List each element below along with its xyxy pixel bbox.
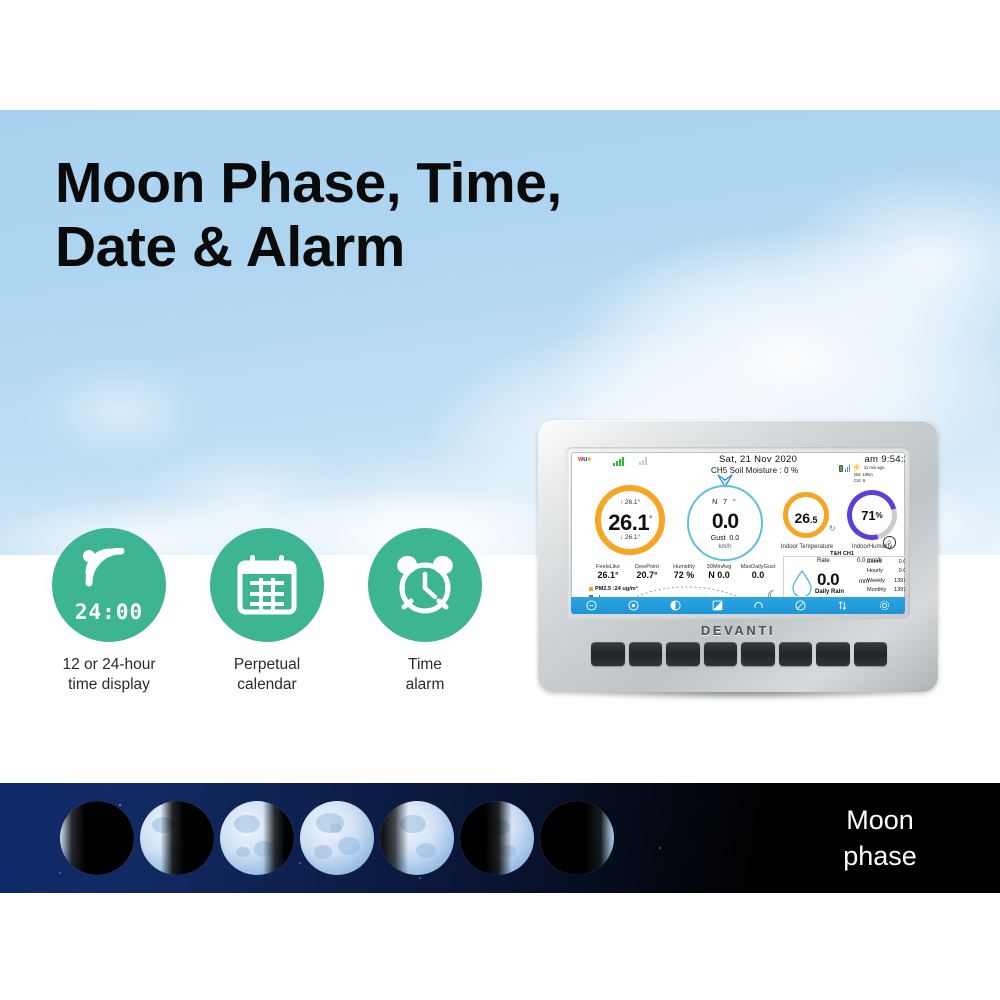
no-signal-icon[interactable] xyxy=(795,600,806,611)
indoor-temp-label: Indoor Temperature xyxy=(767,544,847,550)
moon-label-line-2: phase xyxy=(843,838,917,874)
brightness-icon[interactable] xyxy=(712,600,723,611)
alarm-clock-icon xyxy=(392,552,458,618)
headline-line-2: Date & Alarm xyxy=(55,216,675,280)
device-button[interactable] xyxy=(854,642,888,666)
daily-rain-label: Daily Rain xyxy=(815,589,844,595)
lightning-ago: 11 min ago xyxy=(864,465,884,471)
temp-value: 26.1° xyxy=(601,510,659,536)
page-title: Moon Phase, Time, Date & Alarm xyxy=(55,152,675,280)
wunderground-icon: wu● xyxy=(578,456,591,463)
up-down-arrows-icon[interactable] xyxy=(837,600,848,611)
sun-icon[interactable] xyxy=(628,600,639,611)
indoor-humidity-value: 71% xyxy=(847,490,897,540)
moon-phase-label: Moon phase xyxy=(760,783,1000,893)
moon-phase-full xyxy=(300,801,374,875)
wind-gauge: N 7 ° 0.0 Gust 0.0 km/h xyxy=(687,485,763,561)
wind-unit: km/h xyxy=(689,544,761,550)
temp-low: ↓ 26.1° xyxy=(601,534,659,541)
raindrop-icon xyxy=(791,570,813,596)
daily-rain-value: 0.0 xyxy=(817,570,839,590)
device-bezel: wu● Sat, 21 Nov 2020 am 9:54:20 CH5 Soil… xyxy=(566,447,910,619)
lightning-bolt-icon: ⚡ xyxy=(852,465,862,471)
refresh-icon[interactable] xyxy=(753,600,764,611)
clock-24h-icon: 24:00 xyxy=(71,548,147,622)
device-button[interactable] xyxy=(816,642,850,666)
wind-direction: N 7 ° xyxy=(689,499,761,506)
device-button[interactable] xyxy=(591,642,625,666)
indoor-temp-value: 26.5 xyxy=(788,510,824,526)
wind-speed: 0.0 xyxy=(689,510,761,534)
settings-gear-icon[interactable] xyxy=(879,600,890,611)
table-row: Event0.0 mm xyxy=(867,558,905,567)
moon-phase-waxing-crescent xyxy=(140,801,214,875)
contrast-icon[interactable] xyxy=(670,600,681,611)
feature-perpetual-calendar: Perpetual calendar xyxy=(206,528,328,713)
feature-icon-circle xyxy=(210,528,324,642)
device-button-row[interactable] xyxy=(591,642,887,666)
moon-phase-strip: Moon phase xyxy=(0,783,1000,893)
signal-mini-icon xyxy=(845,465,850,472)
device-screen[interactable]: wu● Sat, 21 Nov 2020 am 9:54:20 CH5 Soil… xyxy=(571,452,905,614)
moon-phase-new xyxy=(60,801,134,875)
divider xyxy=(783,556,905,557)
device-button[interactable] xyxy=(741,642,775,666)
hero-section: Moon Phase, Time, Date & Alarm 24:00 12 … xyxy=(0,0,1000,775)
brand-label: DEVANTI xyxy=(518,623,958,638)
calendar-icon xyxy=(236,554,298,616)
device-button[interactable] xyxy=(704,642,738,666)
signal-grey-icon xyxy=(639,457,647,465)
moon-phase-first-quarter xyxy=(220,801,294,875)
battery-icon xyxy=(839,465,843,472)
feature-icon-circle xyxy=(368,528,482,642)
date-text: Sat, 21 Nov 2020 xyxy=(719,454,797,465)
feature-label: Time alarm xyxy=(406,655,445,696)
outdoor-temperature-gauge: ↑ 26.1° 26.1° ↓ 26.1° xyxy=(595,485,665,555)
moon-phase-waning-gibbous xyxy=(380,801,454,875)
clock-digits: 24:00 xyxy=(72,600,146,624)
screen-toolbar[interactable] xyxy=(571,597,905,614)
indoor-temperature-gauge: 26.5 xyxy=(783,492,829,538)
signal-bars-icon xyxy=(613,457,624,466)
wind-gust: Gust 0.0 xyxy=(689,535,761,542)
moon-phase-waning-crescent xyxy=(540,801,614,875)
feature-time-display: 24:00 12 or 24-hour time display xyxy=(48,528,170,713)
lightning-info: ⚡ 11 min ago Dis: 10km Cnt: 6 xyxy=(839,465,901,484)
moon-phase-last-quarter xyxy=(460,801,534,875)
weather-station-device: wu● Sat, 21 Nov 2020 am 9:54:20 CH5 Soil… xyxy=(518,420,978,710)
moon-label-line-1: Moon xyxy=(846,802,914,838)
time-text: am 9:54:20 xyxy=(864,454,905,465)
feature-icon-circle: 24:00 xyxy=(52,528,166,642)
feature-label: 12 or 24-hour time display xyxy=(62,655,155,696)
device-button[interactable] xyxy=(779,642,813,666)
rain-rate-label: Rate xyxy=(817,558,857,564)
screen-datetime: Sat, 21 Nov 2020 am 9:54:20 xyxy=(719,454,905,465)
feature-label: Perpetual calendar xyxy=(234,655,300,696)
lightning-count: Cnt: 6 xyxy=(839,478,901,484)
comfort-level-icon: ☺ xyxy=(883,536,896,549)
wave-arcs-icon xyxy=(78,548,134,588)
pm25-dot-icon xyxy=(589,587,593,591)
table-row: Hourly0.0 mm xyxy=(867,567,905,576)
sync-icon: ↻ xyxy=(829,524,836,533)
device-button[interactable] xyxy=(629,642,663,666)
device-button[interactable] xyxy=(666,642,700,666)
headline-line-1: Moon Phase, Time, xyxy=(55,152,675,216)
temp-high: ↑ 26.1° xyxy=(601,499,659,506)
table-row: Monthly1397 mm xyxy=(867,586,905,595)
moon-phase-icon[interactable] xyxy=(586,600,597,611)
feature-list: 24:00 12 or 24-hour time display xyxy=(48,528,508,713)
feature-time-alarm: Time alarm xyxy=(364,528,486,713)
table-row: Weekly1397 mm xyxy=(867,577,905,586)
